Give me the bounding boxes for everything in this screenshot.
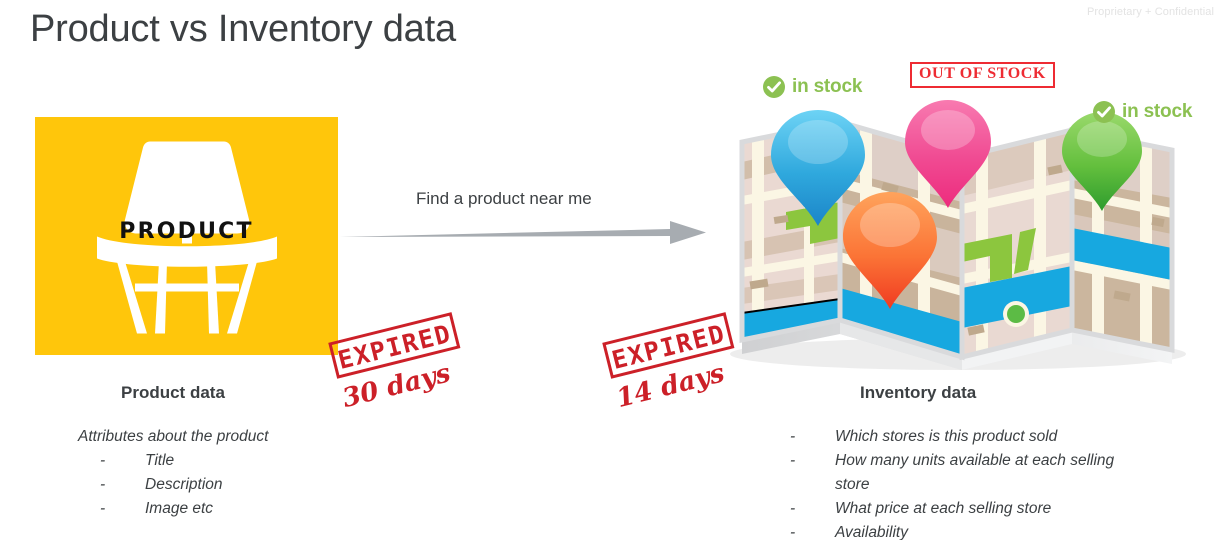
list-item-label: Which stores is this product sold — [835, 428, 1057, 445]
bullet-marker: - — [790, 521, 795, 540]
page-title: Product vs Inventory data — [30, 8, 456, 51]
list-item: - Title — [78, 449, 408, 473]
list-item: - Availability — [790, 521, 1120, 540]
list-item-label: Image etc — [145, 500, 213, 517]
list-item: - How many units available at each selli… — [790, 449, 1120, 497]
in-stock-badge-right: in stock — [1092, 100, 1192, 124]
expired-stamp-14-days: EXPIRED 14 days — [596, 312, 746, 408]
product-bullet-list: - Title - Description - Image etc — [78, 449, 408, 521]
bullet-marker: - — [100, 449, 105, 473]
in-stock-badge-left: in stock — [762, 75, 862, 99]
bullet-marker: - — [790, 425, 795, 449]
bullet-marker: - — [790, 449, 795, 473]
out-of-stock-stamp: OUT OF STOCK — [910, 62, 1055, 88]
list-item-label: How many units available at each selling… — [835, 452, 1114, 493]
chair-icon — [87, 134, 287, 339]
arrow-shape — [340, 221, 706, 244]
in-stock-label: in stock — [792, 76, 862, 98]
inventory-data-caption: Inventory data — [860, 383, 976, 403]
bullet-marker: - — [100, 497, 105, 521]
in-stock-label: in stock — [1122, 101, 1192, 123]
flow-arrow — [340, 205, 710, 250]
check-circle-icon — [1092, 100, 1116, 124]
list-item: - Image etc — [78, 497, 408, 521]
list-item: - Which stores is this product sold — [790, 425, 1120, 449]
inventory-data-description: - Which stores is this product sold - Ho… — [790, 425, 1120, 540]
list-item-label: What price at each selling store — [835, 500, 1051, 517]
list-item-label: Availability — [835, 524, 908, 540]
expired-stamp-30-days: EXPIRED 30 days — [322, 312, 472, 408]
check-circle-icon — [762, 75, 786, 99]
list-item: - Description — [78, 473, 408, 497]
product-data-caption: Product data — [121, 383, 225, 403]
list-item-label: Title — [145, 452, 174, 469]
folded-map-icon — [700, 92, 1210, 377]
product-image-tile: PRODUCT — [35, 117, 338, 355]
inventory-bullet-list: - Which stores is this product sold - Ho… — [790, 425, 1120, 540]
bullet-marker: - — [100, 473, 105, 497]
slide-canvas: Proprietary + Confidential Product vs In… — [0, 0, 1228, 540]
bullet-marker: - — [790, 497, 795, 521]
list-item-label: Description — [145, 476, 223, 493]
product-data-description: Attributes about the product - Title - D… — [78, 425, 408, 521]
product-intro-line: Attributes about the product — [78, 425, 408, 449]
list-item: - What price at each selling store — [790, 497, 1120, 521]
confidentiality-notice: Proprietary + Confidential — [1087, 6, 1214, 18]
